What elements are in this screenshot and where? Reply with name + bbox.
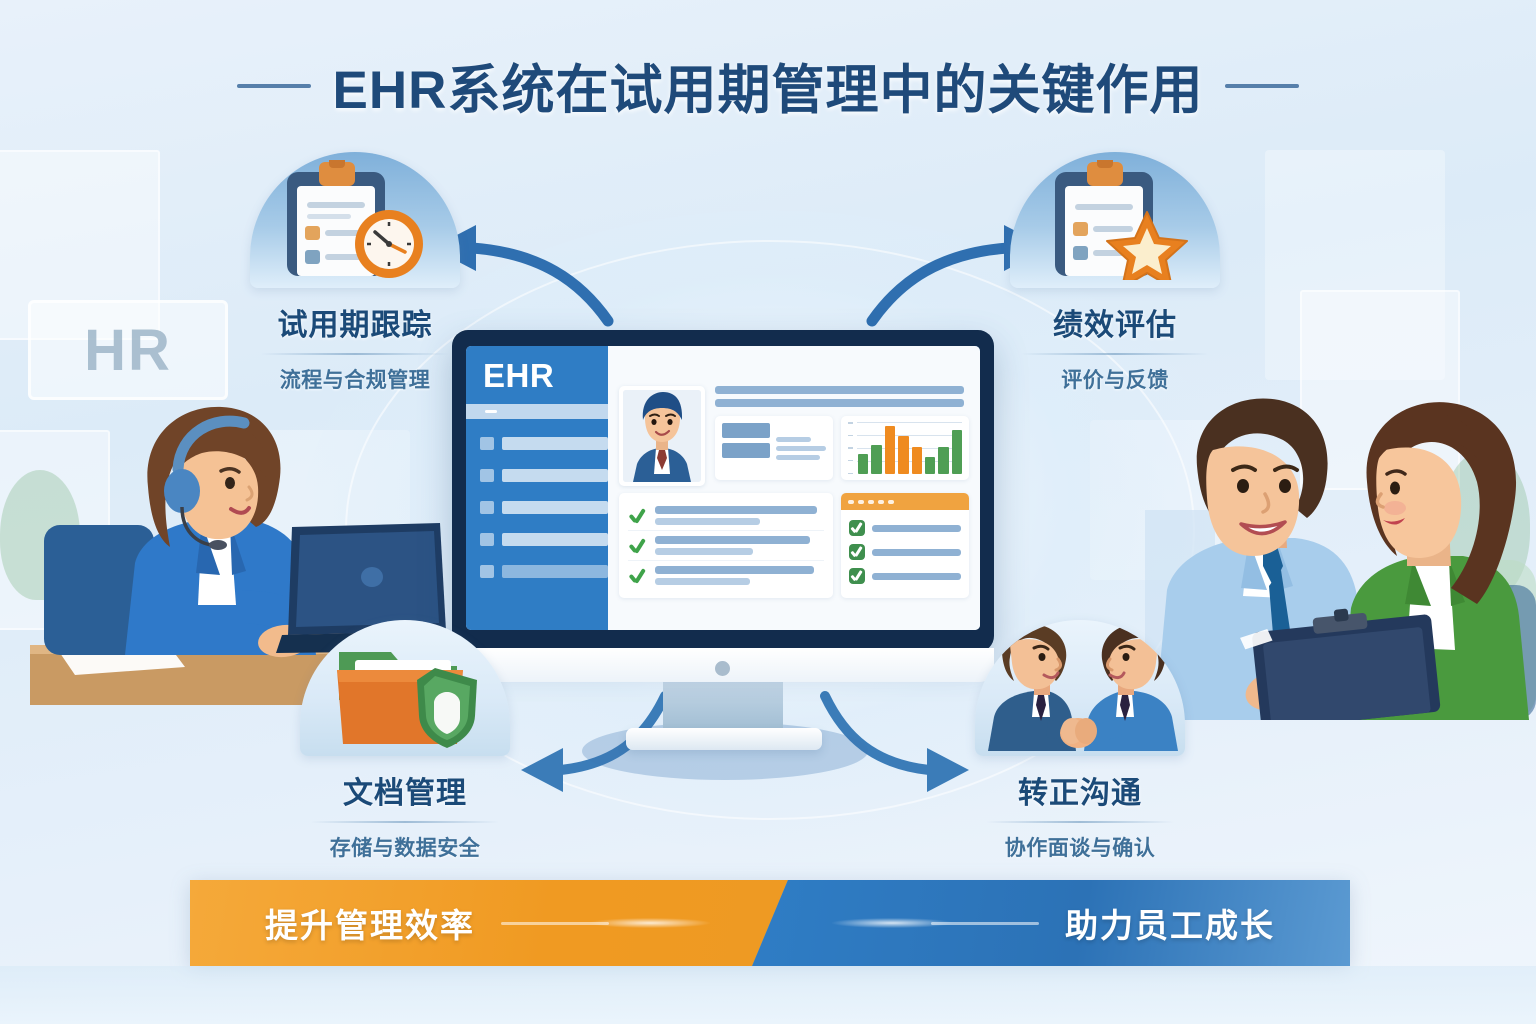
approvals-panel (841, 493, 969, 598)
node-label: 转正沟通 (930, 768, 1230, 812)
approval-line (872, 549, 961, 556)
detail-line-1 (776, 437, 811, 442)
approved-check-icon (849, 544, 865, 560)
node-badge-top-right (1010, 152, 1220, 288)
node-divider (311, 821, 499, 823)
node-label: 试用期跟踪 (205, 300, 505, 344)
nav-icon-5 (480, 565, 494, 578)
approvals-panel-header (841, 493, 969, 510)
chart-y-ticks (848, 422, 856, 474)
probation-checklist (619, 493, 833, 598)
banner-left-half: 提升管理效率 (190, 880, 788, 966)
bottom-banner: 提升管理效率 助力员工成长 (190, 880, 1350, 966)
nav-label-3 (502, 501, 608, 514)
monitor-power-indicator (715, 661, 730, 676)
profile-summary-row (619, 386, 969, 486)
banner-left-glow (590, 918, 710, 928)
detail-line-2 (776, 446, 826, 451)
node-badge-bottom-right (975, 620, 1185, 756)
info-sub-row (715, 416, 969, 480)
hr-wall-sign: HR (28, 300, 228, 400)
sidebar-nav (466, 419, 608, 578)
chart-bar-1 (858, 454, 868, 474)
checklist-row[interactable] (628, 501, 824, 531)
check-icon (628, 568, 646, 584)
nav-icon-2 (480, 469, 494, 482)
detail-card (715, 416, 833, 480)
checklist-row[interactable] (628, 561, 824, 590)
monitor-neck (663, 682, 783, 734)
banner-right-half: 助力员工成长 (752, 880, 1350, 966)
nav-label-4 (502, 533, 608, 546)
approvals-list (841, 510, 969, 594)
nav-label-1 (502, 437, 608, 450)
node-label: 绩效评估 (965, 300, 1265, 344)
detail-blocks (722, 423, 770, 473)
node-subtitle: 评价与反馈 (965, 364, 1265, 394)
bottom-strip (0, 966, 1536, 1024)
sidebar-item-4[interactable] (480, 533, 608, 546)
clipboard-clock-icon (269, 160, 441, 280)
checklist-line-main (655, 506, 817, 514)
checklist-text (655, 506, 824, 525)
checklist-line-sub (655, 578, 750, 585)
chart-bar-6 (925, 457, 935, 474)
detail-block-1 (722, 423, 770, 438)
node-badge-top-left (250, 152, 460, 288)
handshake-icon (982, 625, 1178, 751)
checklist-text (655, 566, 824, 585)
checklist-text (655, 536, 824, 555)
node-probation-tracking[interactable]: 试用期跟踪 流程与合规管理 (205, 152, 505, 394)
approved-check-icon (849, 568, 865, 584)
monitor-bezel: EHR (452, 330, 994, 652)
checklist-row[interactable] (628, 531, 824, 561)
node-subtitle: 流程与合规管理 (205, 364, 505, 394)
chart-plot-area (848, 422, 962, 474)
clipboard-star-icon (1029, 160, 1201, 280)
monitor-base (626, 728, 822, 750)
title-rule-left (237, 84, 311, 88)
checklist-line-sub (655, 518, 760, 525)
employee-info-column (715, 386, 969, 486)
banner-left-text: 提升管理效率 (265, 899, 475, 947)
node-subtitle: 存储与数据安全 (255, 832, 555, 862)
sidebar-item-5[interactable] (480, 565, 608, 578)
chart-bar-2 (871, 445, 881, 474)
chart-bar-4 (898, 436, 908, 474)
node-confirmation-meeting[interactable]: 转正沟通 协作面谈与确认 (930, 620, 1230, 862)
folder-shield-icon (317, 628, 493, 748)
sidebar-item-3[interactable] (480, 501, 608, 514)
chart-bar-7 (938, 447, 948, 474)
page-title: EHR系统在试用期管理中的关键作用 (333, 48, 1204, 124)
node-subtitle: 协作面谈与确认 (930, 832, 1230, 862)
sidebar-item-2[interactable] (480, 469, 608, 482)
approval-line (872, 525, 961, 532)
checklist-line-main (655, 566, 814, 574)
node-badge-bottom-left (300, 620, 510, 756)
approval-line (872, 573, 961, 580)
app-main-content (608, 346, 980, 630)
checklist-line-sub (655, 548, 753, 555)
task-panels-row (619, 493, 969, 598)
detail-lines (776, 423, 826, 473)
info-line-2 (715, 399, 964, 407)
nav-icon-1 (480, 437, 494, 450)
hr-sign-text: HR (84, 317, 172, 384)
title-rule-right (1225, 84, 1299, 88)
banner-right-text: 助力员工成长 (1065, 899, 1275, 947)
chart-bar-3 (885, 426, 895, 474)
detail-block-2 (722, 443, 770, 458)
approval-row[interactable] (849, 540, 961, 564)
node-performance-review[interactable]: 绩效评估 评价与反馈 (965, 152, 1265, 394)
nav-icon-3 (480, 501, 494, 514)
nav-icon-4 (480, 533, 494, 546)
ehr-application-screen[interactable]: EHR (466, 346, 980, 630)
checklist-line-main (655, 536, 810, 544)
sidebar-item-1[interactable] (480, 437, 608, 450)
performance-bar-chart (841, 416, 969, 480)
search-icon (485, 410, 497, 413)
check-icon (628, 508, 646, 524)
node-divider (261, 353, 449, 355)
employee-photo-card (619, 386, 705, 486)
approved-check-icon (849, 520, 865, 536)
sidebar-search-bar[interactable] (466, 404, 608, 419)
approval-row[interactable] (849, 564, 961, 588)
banner-right-glow (832, 918, 952, 928)
chart-bar-8 (952, 430, 962, 474)
infographic-canvas: HR EHR系统在试用期管理中的关键作用 (0, 0, 1536, 1024)
info-line-1 (715, 386, 964, 394)
page-title-row: EHR系统在试用期管理中的关键作用 (0, 48, 1536, 124)
node-divider (1021, 353, 1209, 355)
approval-row[interactable] (849, 516, 961, 540)
check-icon (628, 538, 646, 554)
nav-label-5 (502, 565, 608, 578)
detail-line-3 (776, 455, 820, 460)
employee-avatar (623, 390, 701, 482)
node-document-management[interactable]: 文档管理 存储与数据安全 (255, 620, 555, 862)
node-divider (986, 821, 1174, 823)
nav-label-2 (502, 469, 608, 482)
chart-bar-5 (912, 447, 922, 474)
node-label: 文档管理 (255, 768, 555, 812)
